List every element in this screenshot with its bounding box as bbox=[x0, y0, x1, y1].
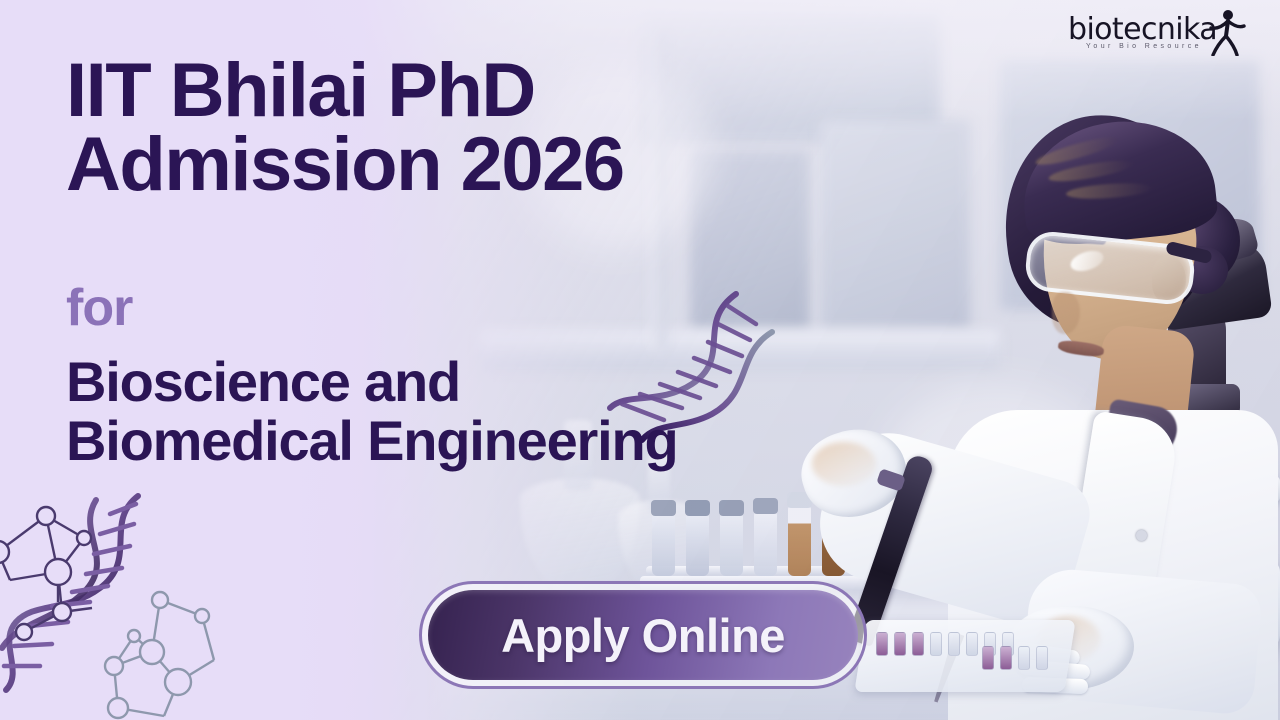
microplate-well bbox=[948, 632, 960, 656]
microplate-well bbox=[1036, 646, 1048, 670]
microplate-well bbox=[876, 632, 888, 656]
headline-connector: for bbox=[66, 282, 132, 334]
microplate-well bbox=[982, 646, 994, 670]
microplate-well-row-2 bbox=[982, 646, 1048, 670]
logo-wordmark: biotecnika bbox=[1068, 12, 1217, 47]
logo-tagline: Your Bio Resource bbox=[1086, 43, 1202, 50]
subtitle-line-2: Biomedical Engineering bbox=[66, 411, 896, 470]
logo-human-figure-icon bbox=[1204, 8, 1246, 56]
apply-online-button[interactable]: Apply Online bbox=[428, 590, 858, 680]
microplate-well bbox=[894, 632, 906, 656]
promotional-banner: IIT Bhilai PhD Admission 2026 for Biosci… bbox=[0, 0, 1280, 720]
lab-coat-button-1 bbox=[1136, 530, 1147, 541]
subtitle-line-1: Bioscience and bbox=[66, 352, 896, 411]
microplate-well bbox=[1018, 646, 1030, 670]
microplate-well bbox=[912, 632, 924, 656]
apply-online-cta[interactable]: Apply Online bbox=[419, 581, 867, 689]
microplate-well bbox=[966, 632, 978, 656]
headline-line-2: Admission 2026 bbox=[66, 128, 946, 202]
science-decoration-bottom-left bbox=[0, 476, 238, 720]
page-title: IIT Bhilai PhD Admission 2026 bbox=[66, 54, 946, 201]
microplate-well bbox=[1000, 646, 1012, 670]
biotecnika-logo[interactable]: biotecnika Your Bio Resource bbox=[1068, 10, 1258, 62]
subtitle: Bioscience and Biomedical Engineering bbox=[66, 352, 896, 471]
microplate-well bbox=[930, 632, 942, 656]
molecule-network-lower bbox=[105, 592, 214, 718]
headline-line-1: IIT Bhilai PhD bbox=[66, 48, 535, 133]
